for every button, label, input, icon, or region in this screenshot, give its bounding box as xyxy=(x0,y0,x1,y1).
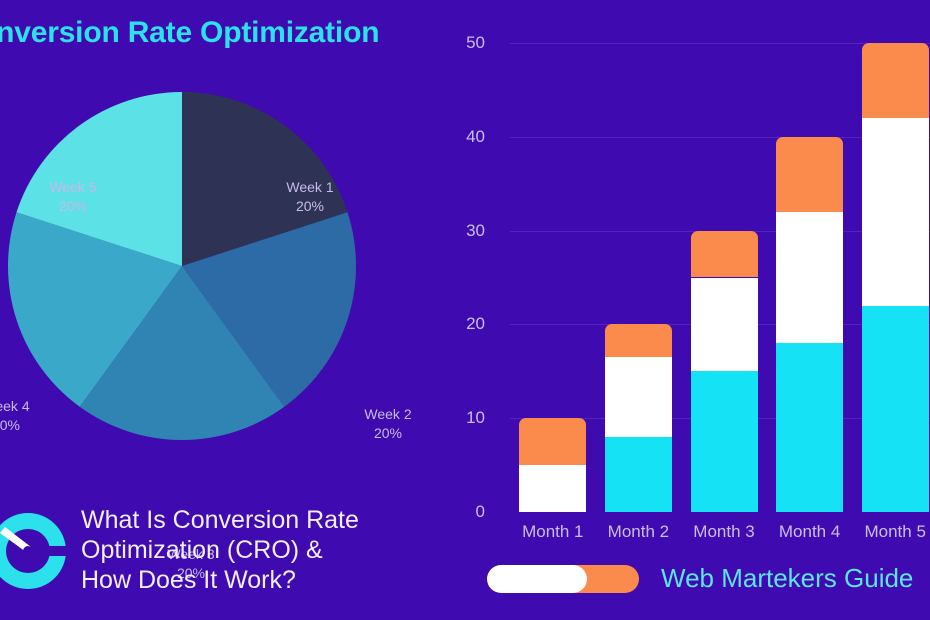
pie-slice-label-week-1: Week 1 20% xyxy=(270,178,350,216)
bar-group[interactable] xyxy=(691,43,758,512)
bar-group[interactable] xyxy=(605,43,672,512)
y-axis-tick-label: 40 xyxy=(441,127,485,147)
footer-headline-line-1: What Is Conversion Rate xyxy=(81,505,441,535)
bar-segment xyxy=(605,437,672,512)
bar-segment xyxy=(519,418,586,465)
y-axis-tick-label: 10 xyxy=(441,408,485,428)
bar-segment xyxy=(862,306,929,512)
bar-segment xyxy=(519,465,586,512)
y-axis-tick-label: 20 xyxy=(441,314,485,334)
bar-group[interactable] xyxy=(862,43,929,512)
pie-slice-label-name: Week 5 xyxy=(33,178,113,197)
infographic-canvas: onversion Rate Optimization Week 1 20% W… xyxy=(0,0,930,620)
footer-headline-line-2: Optimization (CRO) & xyxy=(81,535,441,565)
bar-segment xyxy=(605,324,672,357)
pie-slice-label-percent: 20% xyxy=(348,424,428,443)
pie-slice-label-percent: 20% xyxy=(270,197,350,216)
bar-segment xyxy=(691,278,758,372)
footer-headline-line-3: How Does It Work? xyxy=(81,565,441,595)
pie-slice-label-week-5: Week 5 20% xyxy=(33,178,113,216)
bar-segment xyxy=(691,371,758,512)
pie-slice-label-percent: 20% xyxy=(0,416,46,435)
pill-logo-icon xyxy=(487,565,639,593)
left-panel: onversion Rate Optimization Week 1 20% W… xyxy=(0,0,465,620)
bar-segment xyxy=(862,118,929,306)
pie-slice-label-name: Week 2 xyxy=(348,405,428,424)
site-brand: Web Martekers Guide xyxy=(487,563,913,594)
bar-segment xyxy=(691,231,758,278)
page-title: onversion Rate Optimization xyxy=(0,16,448,50)
pie-chart: Week 1 20% Week 2 20% Week 3 20% Week 4 … xyxy=(8,92,356,440)
site-brand-name: Web Martekers Guide xyxy=(661,563,913,594)
footer-headline: What Is Conversion Rate Optimization (CR… xyxy=(81,505,441,595)
pie-slice-label-week-2: Week 2 20% xyxy=(348,405,428,443)
x-axis-tick-label: Month 5 xyxy=(835,522,930,542)
bar-segment xyxy=(776,137,843,212)
bar-segment xyxy=(776,212,843,343)
bar-chart: 01020304050 Month 1Month 2Month 3Month 4… xyxy=(465,0,930,560)
pie-slice-label-name: Week 1 xyxy=(270,178,350,197)
speedometer-gauge-icon xyxy=(0,505,74,597)
pill-logo-fill xyxy=(487,565,587,593)
bar-group[interactable] xyxy=(519,43,586,512)
y-axis-tick-label: 30 xyxy=(441,221,485,241)
y-axis-tick-label: 50 xyxy=(441,33,485,53)
bar-segment xyxy=(605,357,672,437)
bar-group[interactable] xyxy=(776,43,843,512)
pie-slice-label-name: Week 4 xyxy=(0,397,46,416)
bar-segment xyxy=(776,343,843,512)
pie-slice-label-week-4: Week 4 20% xyxy=(0,397,46,435)
bar-segment xyxy=(862,43,929,118)
pie-chart-svg xyxy=(8,92,356,440)
pie-slice-label-percent: 20% xyxy=(33,197,113,216)
right-panel: 01020304050 Month 1Month 2Month 3Month 4… xyxy=(465,0,930,620)
y-axis-tick-label: 0 xyxy=(441,502,485,522)
